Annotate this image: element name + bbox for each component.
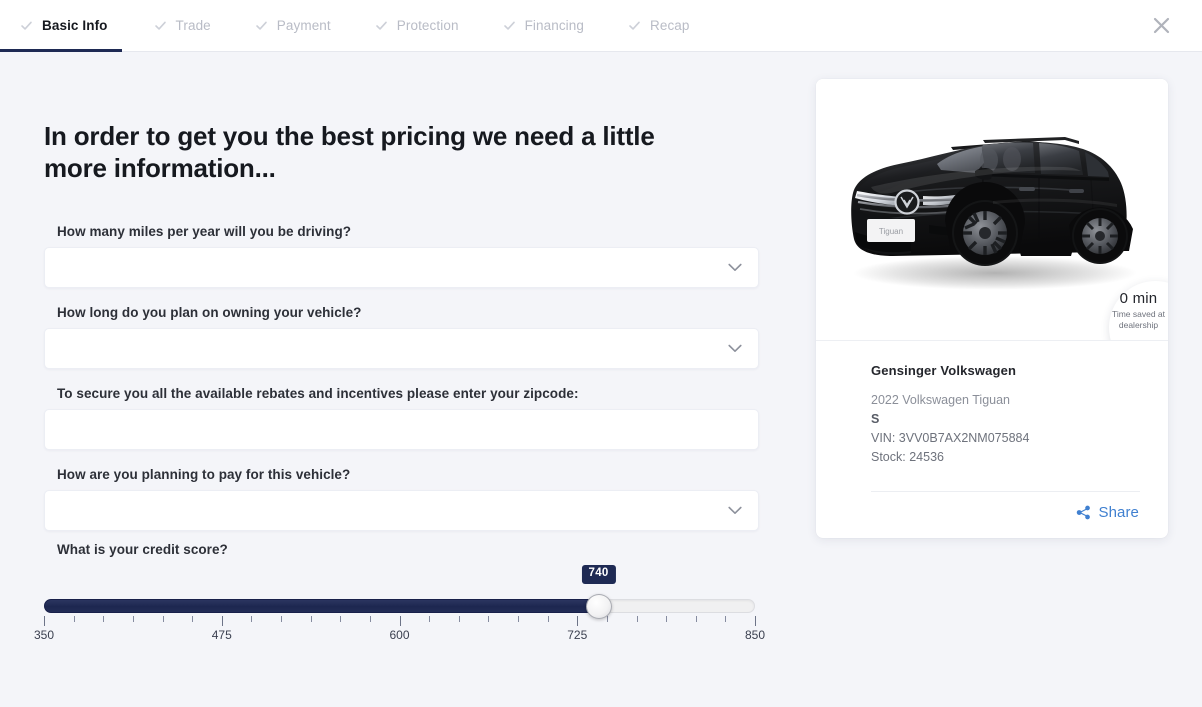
field-zipcode: To secure you all the available rebates … bbox=[44, 386, 759, 450]
form-column: In order to get you the best pricing we … bbox=[44, 120, 759, 644]
check-icon bbox=[503, 19, 516, 32]
close-icon bbox=[1152, 16, 1171, 35]
tab-trade[interactable]: Trade bbox=[132, 0, 233, 52]
vehicle-image-area: Tiguan bbox=[816, 79, 1168, 341]
tick-minor bbox=[548, 616, 549, 622]
tab-label: Protection bbox=[397, 18, 459, 33]
vehicle-trim: S bbox=[871, 410, 1140, 429]
tick-minor bbox=[459, 616, 460, 622]
check-icon bbox=[255, 19, 268, 32]
vehicle-summary-card: Tiguan bbox=[816, 79, 1168, 538]
top-tab-bar: Basic Info Trade Payment Protection Fina bbox=[0, 0, 1202, 52]
tick-major bbox=[222, 616, 223, 626]
share-label: Share bbox=[1098, 504, 1139, 521]
tick-label: 475 bbox=[212, 628, 232, 642]
tab-label: Basic Info bbox=[42, 18, 108, 33]
field-label: How are you planning to pay for this veh… bbox=[57, 467, 759, 482]
dealer-name: Gensinger Volkswagen bbox=[871, 363, 1140, 378]
tick-minor bbox=[725, 616, 726, 622]
tab-basic-info[interactable]: Basic Info bbox=[0, 0, 132, 52]
tick-major bbox=[577, 616, 578, 626]
check-icon bbox=[628, 19, 641, 32]
slider-track-fill bbox=[44, 599, 599, 613]
field-payment-method: How are you planning to pay for this veh… bbox=[44, 467, 759, 531]
slider-value-badge: 740 bbox=[582, 565, 616, 584]
tab-label: Trade bbox=[176, 18, 211, 33]
tick-minor bbox=[429, 616, 430, 622]
payment-method-select[interactable] bbox=[44, 490, 759, 531]
vehicle-vin: VIN: 3VV0B7AX2NM075884 bbox=[871, 429, 1140, 448]
tick-minor bbox=[370, 616, 371, 622]
tick-minor bbox=[637, 616, 638, 622]
check-icon bbox=[375, 19, 388, 32]
field-label: How long do you plan on owning your vehi… bbox=[57, 305, 759, 320]
tab-protection[interactable]: Protection bbox=[353, 0, 481, 52]
tab-financing[interactable]: Financing bbox=[481, 0, 606, 52]
tab-label: Financing bbox=[525, 18, 584, 33]
close-button[interactable] bbox=[1148, 13, 1174, 39]
vehicle-photo: Tiguan bbox=[833, 101, 1151, 301]
tick-minor bbox=[163, 616, 164, 622]
field-miles-per-year: How many miles per year will you be driv… bbox=[44, 224, 759, 288]
check-icon bbox=[20, 19, 33, 32]
slider-tick-marks bbox=[44, 616, 755, 627]
tick-minor bbox=[488, 616, 489, 622]
tick-minor bbox=[281, 616, 282, 622]
miles-per-year-select[interactable] bbox=[44, 247, 759, 288]
tick-minor bbox=[133, 616, 134, 622]
tick-minor bbox=[607, 616, 608, 622]
tick-label: 725 bbox=[567, 628, 587, 642]
tick-label: 350 bbox=[34, 628, 54, 642]
chevron-down-icon bbox=[728, 344, 742, 353]
slider-thumb[interactable] bbox=[586, 594, 612, 619]
check-icon bbox=[154, 19, 167, 32]
page-title: In order to get you the best pricing we … bbox=[44, 120, 694, 184]
share-button[interactable]: Share bbox=[1076, 504, 1139, 521]
tick-minor bbox=[518, 616, 519, 622]
tick-label: 850 bbox=[745, 628, 765, 642]
tick-minor bbox=[74, 616, 75, 622]
share-row: Share bbox=[816, 492, 1168, 538]
zipcode-input[interactable] bbox=[44, 409, 759, 450]
field-label: To secure you all the available rebates … bbox=[57, 386, 759, 401]
tick-minor bbox=[696, 616, 697, 622]
chevron-down-icon bbox=[728, 263, 742, 272]
vehicle-stock: Stock: 24536 bbox=[871, 448, 1140, 467]
tick-label: 600 bbox=[389, 628, 409, 642]
vehicle-name: 2022 Volkswagen Tiguan bbox=[871, 391, 1140, 410]
time-saved-amount: 0 min bbox=[1120, 291, 1158, 308]
slider-tick-labels: 350475600725850 bbox=[44, 628, 755, 644]
tab-label: Recap bbox=[650, 18, 690, 33]
credit-score-slider-block: What is your credit score? 740 350475600… bbox=[44, 542, 759, 644]
tick-major bbox=[44, 616, 45, 626]
tick-minor bbox=[192, 616, 193, 622]
tick-minor bbox=[311, 616, 312, 622]
svg-text:Tiguan: Tiguan bbox=[879, 227, 903, 236]
field-ownership-length: How long do you plan on owning your vehi… bbox=[44, 305, 759, 369]
chevron-down-icon bbox=[728, 506, 742, 515]
tick-major bbox=[400, 616, 401, 626]
tick-minor bbox=[103, 616, 104, 622]
page-body: In order to get you the best pricing we … bbox=[0, 52, 1202, 707]
vehicle-details: Gensinger Volkswagen 2022 Volkswagen Tig… bbox=[816, 341, 1168, 467]
credit-score-slider[interactable]: 740 bbox=[44, 598, 755, 614]
tick-minor bbox=[251, 616, 252, 622]
ownership-length-select[interactable] bbox=[44, 328, 759, 369]
tick-minor bbox=[666, 616, 667, 622]
tab-list: Basic Info Trade Payment Protection Fina bbox=[0, 0, 712, 52]
field-label: How many miles per year will you be driv… bbox=[57, 224, 759, 239]
tab-payment[interactable]: Payment bbox=[233, 0, 353, 52]
tab-label: Payment bbox=[277, 18, 331, 33]
tab-recap[interactable]: Recap bbox=[606, 0, 712, 52]
tick-major bbox=[755, 616, 756, 626]
time-saved-caption: Time saved at dealership bbox=[1104, 309, 1169, 330]
credit-score-label: What is your credit score? bbox=[57, 542, 759, 557]
tick-minor bbox=[340, 616, 341, 622]
share-icon bbox=[1076, 505, 1091, 520]
